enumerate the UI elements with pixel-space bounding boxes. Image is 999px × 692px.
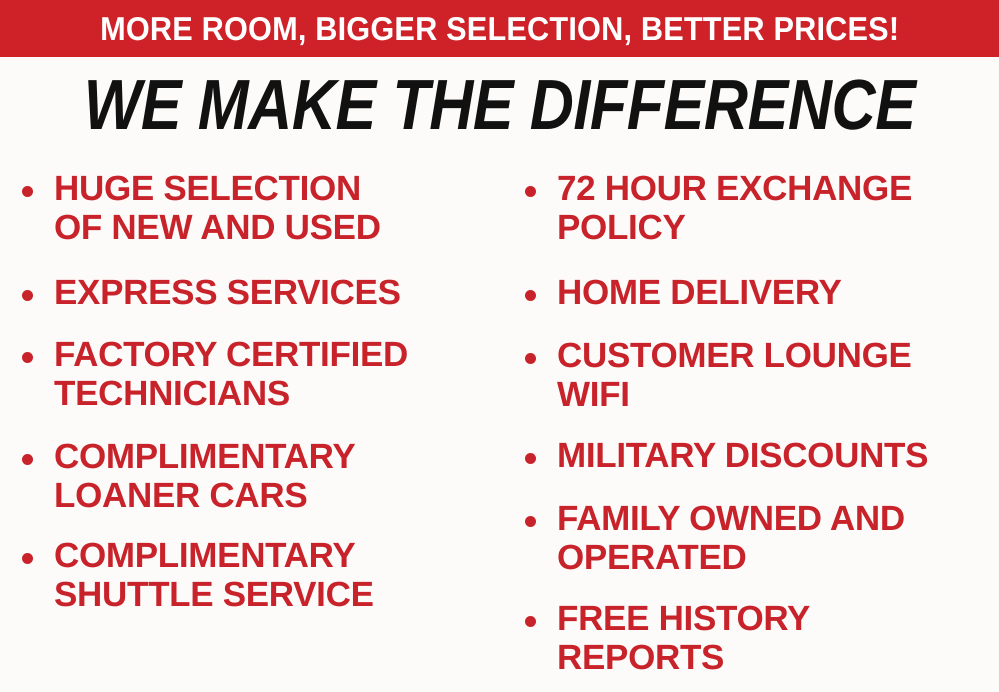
list-item-label: MILITARY DISCOUNTS [557,436,999,475]
bullet-icon [525,353,536,364]
list-item-label: HOME DELIVERY [557,273,999,312]
list-item: MILITARY DISCOUNTS [517,436,999,475]
list-item: HOME DELIVERY [517,273,999,312]
list-item: EXPRESS SERVICES [14,273,494,312]
page-title: WE MAKE THE DIFFERENCE [84,70,916,141]
list-item-label: FACTORY CERTIFIED TECHNICIANS [54,335,494,413]
bullet-icon [22,290,33,301]
list-item-label: 72 HOUR EXCHANGE POLICY [557,169,999,247]
list-item: COMPLIMENTARY SHUTTLE SERVICE [14,536,494,614]
bullet-icon [22,454,33,465]
list-item-label: COMPLIMENTARY SHUTTLE SERVICE [54,536,494,614]
list-item: 72 HOUR EXCHANGE POLICY [517,169,999,247]
bullet-icon [525,516,536,527]
feature-list-left: HUGE SELECTION OF NEW AND USED EXPRESS S… [14,160,494,614]
bullet-icon [525,186,536,197]
list-item-label: COMPLIMENTARY LOANER CARS [54,437,494,515]
list-item: FAMILY OWNED AND OPERATED [517,499,999,577]
banner-headline: MORE ROOM, BIGGER SELECTION, BETTER PRIC… [100,12,899,45]
headline-container: WE MAKE THE DIFFERENCE [0,66,999,144]
list-item: COMPLIMENTARY LOANER CARS [14,437,494,515]
list-item-label: HUGE SELECTION OF NEW AND USED [54,169,494,247]
list-item: CUSTOMER LOUNGE WIFI [517,336,999,414]
bullet-icon [22,553,33,564]
list-item-label: CUSTOMER LOUNGE WIFI [557,336,999,414]
list-item-label: FAMILY OWNED AND OPERATED [557,499,999,577]
promotional-poster: MORE ROOM, BIGGER SELECTION, BETTER PRIC… [0,0,999,692]
list-item: FACTORY CERTIFIED TECHNICIANS [14,335,494,413]
bullet-icon [22,186,33,197]
top-banner: MORE ROOM, BIGGER SELECTION, BETTER PRIC… [0,0,999,57]
list-item: FREE HISTORY REPORTS [517,599,999,677]
list-item-label: EXPRESS SERVICES [54,273,494,312]
feature-columns: HUGE SELECTION OF NEW AND USED EXPRESS S… [0,160,999,692]
bullet-icon [525,290,536,301]
list-item-label: FREE HISTORY REPORTS [557,599,999,677]
list-item: HUGE SELECTION OF NEW AND USED [14,169,494,247]
feature-list-right: 72 HOUR EXCHANGE POLICY HOME DELIVERY CU… [517,160,999,677]
bullet-icon [525,453,536,464]
bullet-icon [22,352,33,363]
bullet-icon [525,616,536,627]
